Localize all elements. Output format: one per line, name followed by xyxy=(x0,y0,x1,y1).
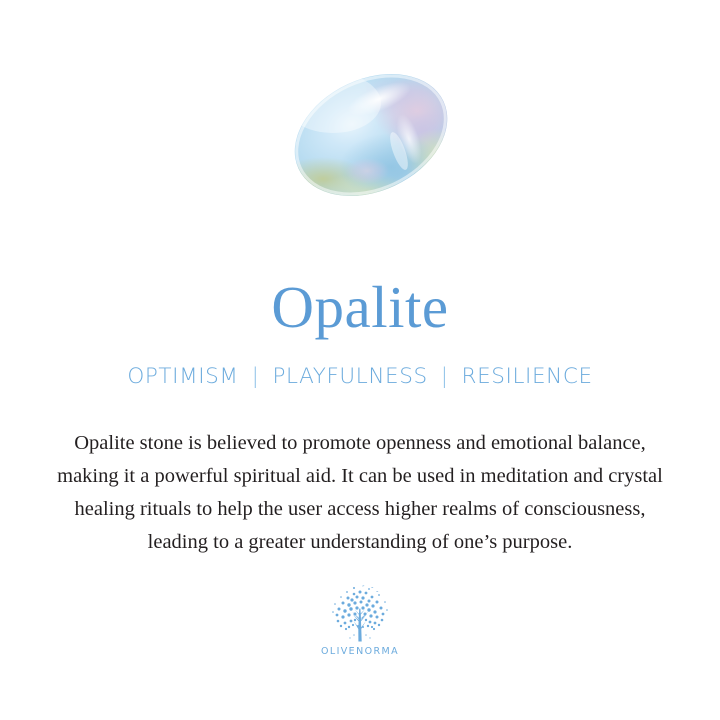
keyword-separator-1: | xyxy=(239,364,273,389)
keyword-strip: OPTIMISM | PLAYFULNESS | RESILIENCE xyxy=(127,364,592,389)
keyword-separator-2: | xyxy=(428,364,462,389)
page-title: Opalite xyxy=(271,278,448,340)
description-line-1: Opalite stone is believed to promote ope… xyxy=(20,427,700,460)
opalite-stone-svg xyxy=(271,55,471,215)
keyword-playfulness: PLAYFULNESS xyxy=(272,364,427,389)
brand-logo: OLIVENORMA xyxy=(321,583,399,657)
description-line-4: leading to a greater understanding of on… xyxy=(20,526,700,559)
brand-name: OLIVENORMA xyxy=(321,646,399,657)
description-line-2: making it a powerful spiritual aid. It c… xyxy=(20,460,700,493)
opalite-cabochon-image xyxy=(271,55,471,215)
tree-of-life-icon xyxy=(324,583,396,645)
opalite-info-card: Opalite OPTIMISM | PLAYFULNESS | RESILIE… xyxy=(0,0,720,720)
stone-image-block xyxy=(0,0,720,278)
keyword-resilience: RESILIENCE xyxy=(462,364,593,389)
keyword-optimism: OPTIMISM xyxy=(127,364,238,389)
description-paragraph: Opalite stone is believed to promote ope… xyxy=(20,427,700,559)
description-line-3: healing rituals to help the user access … xyxy=(20,493,700,526)
